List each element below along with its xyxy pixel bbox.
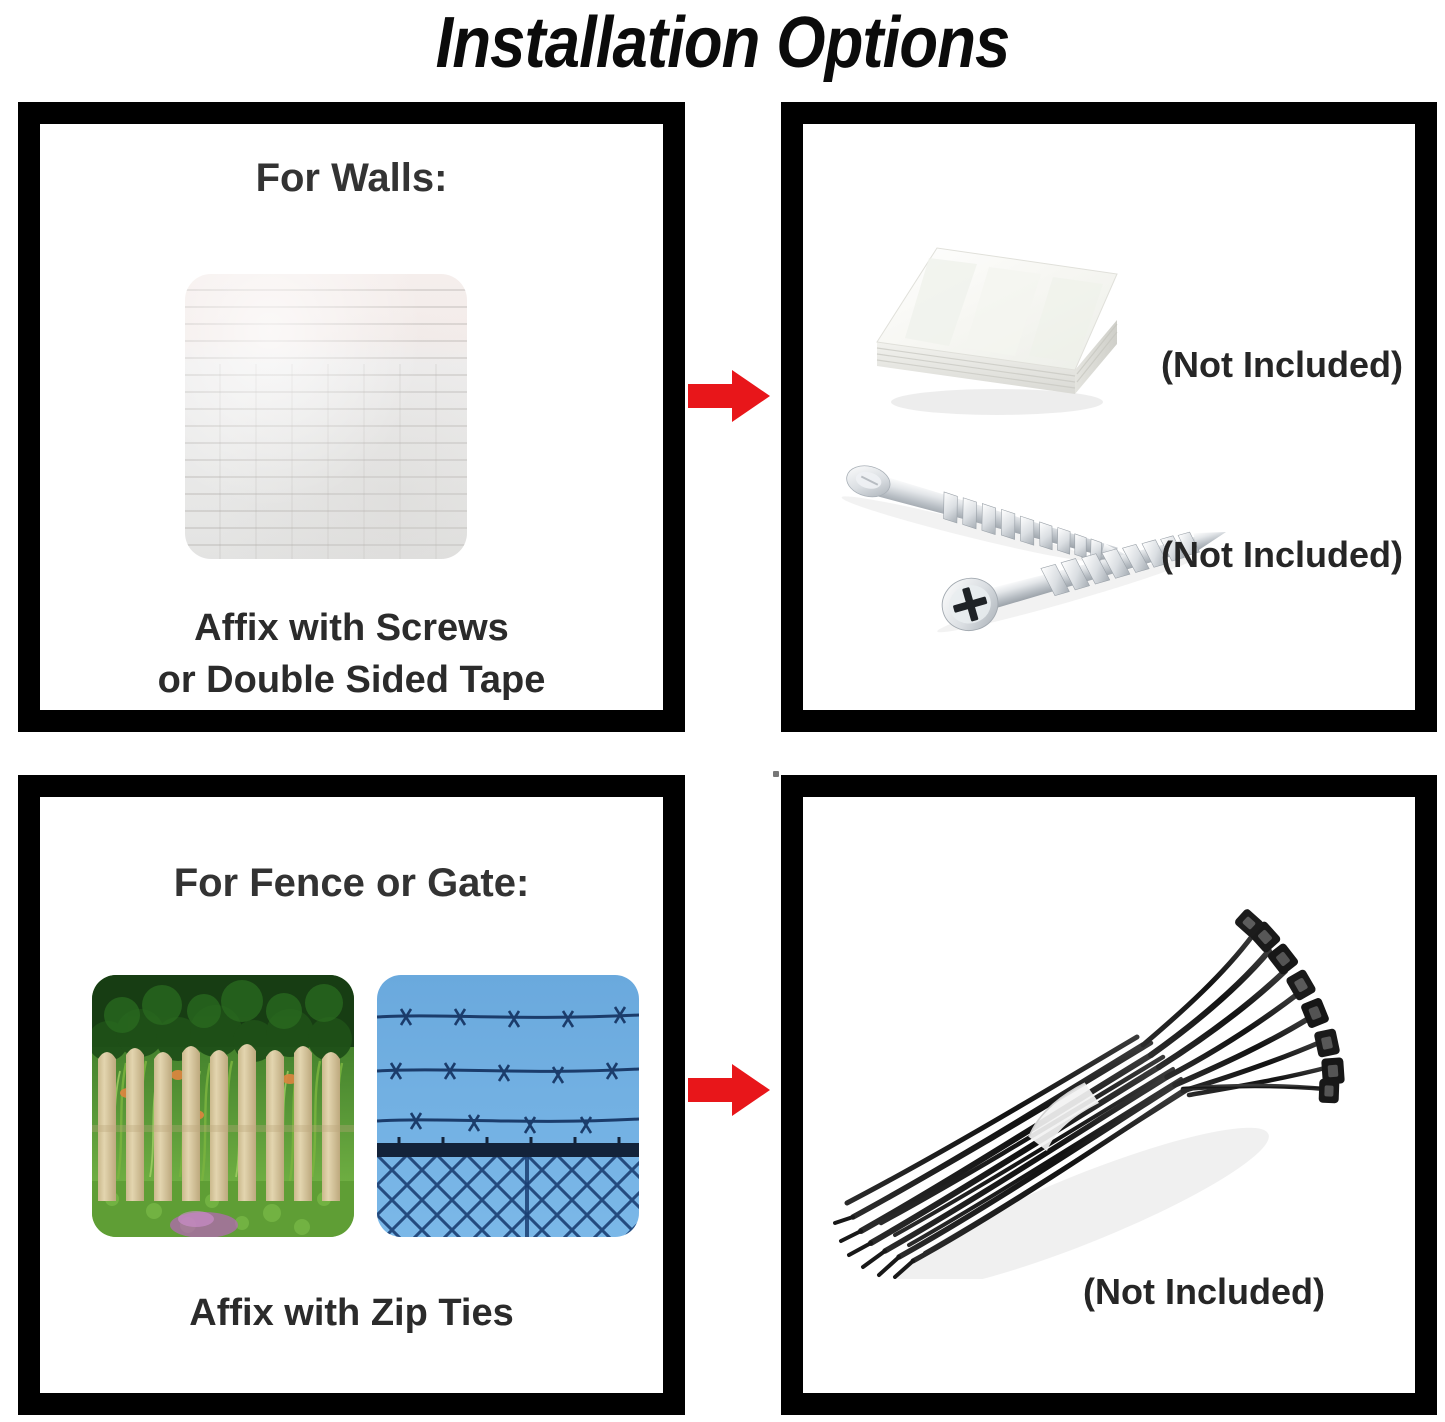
zip-ties-not-included-label: (Not Included): [1083, 1271, 1325, 1313]
for-walls-heading: For Walls:: [40, 154, 663, 202]
wooden-picket-fence-photo: [92, 975, 354, 1237]
for-fence-or-gate-heading: For Fence or Gate:: [40, 859, 663, 907]
tape-not-included-label: (Not Included): [1161, 344, 1403, 386]
black-zip-ties-bundle-image: [833, 879, 1353, 1279]
red-right-arrow-icon-bottom: [688, 1062, 770, 1118]
panel-for-fence-or-gate: For Fence or Gate:: [18, 775, 685, 1415]
infographic-sheet: Installation Options For Walls: Affix wi…: [0, 0, 1445, 1422]
walls-caption-line-1: Affix with Screws: [40, 602, 663, 654]
picket-fence-artwork: [92, 975, 354, 1237]
brick-lighting-overlay: [185, 274, 467, 559]
panel-wall-hardware: (Not Included): [781, 102, 1437, 732]
image-artifact-speck: [773, 771, 779, 777]
panel-for-fence-inner: For Fence or Gate:: [40, 797, 663, 1393]
panel-fence-hardware-inner: (Not Included): [803, 797, 1415, 1393]
page-title: Installation Options: [87, 2, 1359, 84]
panel-wall-hardware-inner: (Not Included): [803, 124, 1415, 710]
panel-fence-hardware: (Not Included): [781, 775, 1437, 1415]
chain-link-fence-photo: [377, 975, 639, 1237]
fence-caption: Affix with Zip Ties: [40, 1287, 663, 1339]
white-brick-wall-swatch-image: [185, 274, 467, 559]
red-right-arrow-icon-top: [688, 368, 770, 424]
panel-for-walls-inner: For Walls: Affix with Screws or Double S…: [40, 124, 663, 710]
double-sided-tape-stack-image: [865, 234, 1125, 424]
walls-caption-line-2: or Double Sided Tape: [40, 654, 663, 706]
panel-for-walls: For Walls: Affix with Screws or Double S…: [18, 102, 685, 732]
chain-link-fence-artwork: [377, 975, 639, 1237]
screws-not-included-label: (Not Included): [1161, 534, 1403, 576]
